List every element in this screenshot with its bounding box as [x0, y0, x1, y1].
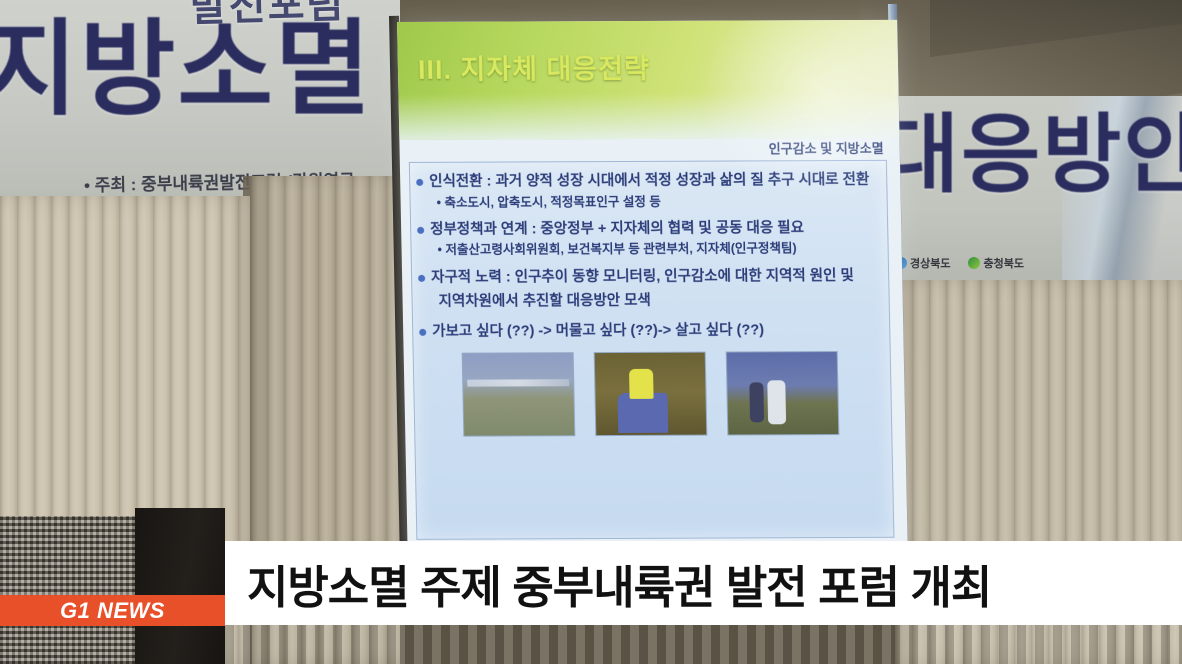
slide-title: III. 지자체 대응전략 — [418, 47, 651, 87]
station-logo-bar: G1 NEWS — [0, 595, 225, 626]
sponsor-name: 충청북도 — [983, 255, 1023, 271]
bullet-dot-icon — [417, 227, 424, 234]
slide-thumbnail-people-table — [594, 351, 708, 435]
headline-bar: 지방소멸 주제 중부내륙권 발전 포럼 개최 — [225, 541, 1182, 625]
bullet-dot-icon — [416, 179, 423, 186]
news-broadcast-frame: 발전포럼 지방소멸 • 주최 : 중부내륙권발전포럼 (강원연구 대응방안 경상… — [0, 0, 1182, 664]
backdrop-right-word: 대응방안 — [880, 112, 1182, 198]
bullet-dot-icon — [419, 329, 426, 336]
slide-bullet-text: 정부정책과 연계 : 중앙정부 + 지자체의 협력 및 공동 대응 필요 — [430, 219, 804, 240]
slide-bullet: 자구적 노력 : 인구추이 동향 모니터링, 인구감소에 대한 지역적 원인 및 — [418, 266, 878, 288]
sponsor-name: 경상북도 — [910, 255, 950, 271]
slide-bullet: 인식전환 : 과거 양적 성장 시대에서 적정 성장과 삶의 질 추구 시대로 … — [416, 171, 876, 193]
province-logo-icon — [968, 257, 980, 269]
bullet-dot-icon — [418, 274, 425, 281]
slide-thumbnail-landscape — [462, 352, 576, 436]
speaker-box — [135, 508, 225, 664]
slide-thumbnail-row — [420, 351, 882, 437]
floor-strip — [225, 624, 1182, 664]
slide-kicker: 인구감소 및 지방소멸 — [769, 138, 884, 157]
slide-bullet: 가보고 싶다 (??) -> 머물고 싶다 (??)-> 살고 싶다 (??) — [419, 321, 879, 343]
sponsor-logo-row: 경상북도 충청북도 — [895, 255, 1024, 271]
slide-bullet: 정부정책과 연계 : 중앙정부 + 지자체의 협력 및 공동 대응 필요 — [417, 219, 877, 241]
projected-slide: III. 지자체 대응전략 인구감소 및 지방소멸 인식전환 : 과거 양적 성… — [397, 20, 908, 550]
slide-bullet-continuation: 지역차원에서 추진할 대응방안 모색 — [438, 288, 878, 311]
slide-thumbnail-people-outdoors — [726, 351, 840, 435]
slide-header: III. 지자체 대응전략 — [397, 20, 899, 140]
patterned-panel — [0, 516, 140, 664]
station-logo-text: G1 NEWS — [60, 598, 165, 624]
slide-sub-bullet: • 축소도시, 압축도시, 적정목표인구 설정 등 — [436, 192, 876, 210]
slide-bullet-text: 자구적 노력 : 인구추이 동향 모니터링, 인구감소에 대한 지역적 원인 및 — [431, 267, 854, 288]
slide-bullet-text: 인식전환 : 과거 양적 성장 시대에서 적정 성장과 삶의 질 추구 시대로 … — [429, 171, 869, 192]
slide-sub-bullet: • 저출산고령사회위원회, 보건복지부 등 관련부처, 지자체(인구정책팀) — [437, 240, 877, 258]
slide-bullet-text: 가보고 싶다 (??) -> 머물고 싶다 (??)-> 살고 싶다 (??) — [432, 322, 764, 343]
slide-body: 인식전환 : 과거 양적 성장 시대에서 적정 성장과 삶의 질 추구 시대로 … — [409, 160, 895, 540]
backdrop-main-word: 지방소멸 — [0, 18, 373, 122]
headline-text: 지방소멸 주제 중부내륙권 발전 포럼 개최 — [247, 551, 991, 616]
sponsor-chip-chungcheongbuk: 충청북도 — [968, 255, 1023, 271]
sponsor-chip-gyeongsangbuk: 경상북도 — [895, 255, 950, 271]
